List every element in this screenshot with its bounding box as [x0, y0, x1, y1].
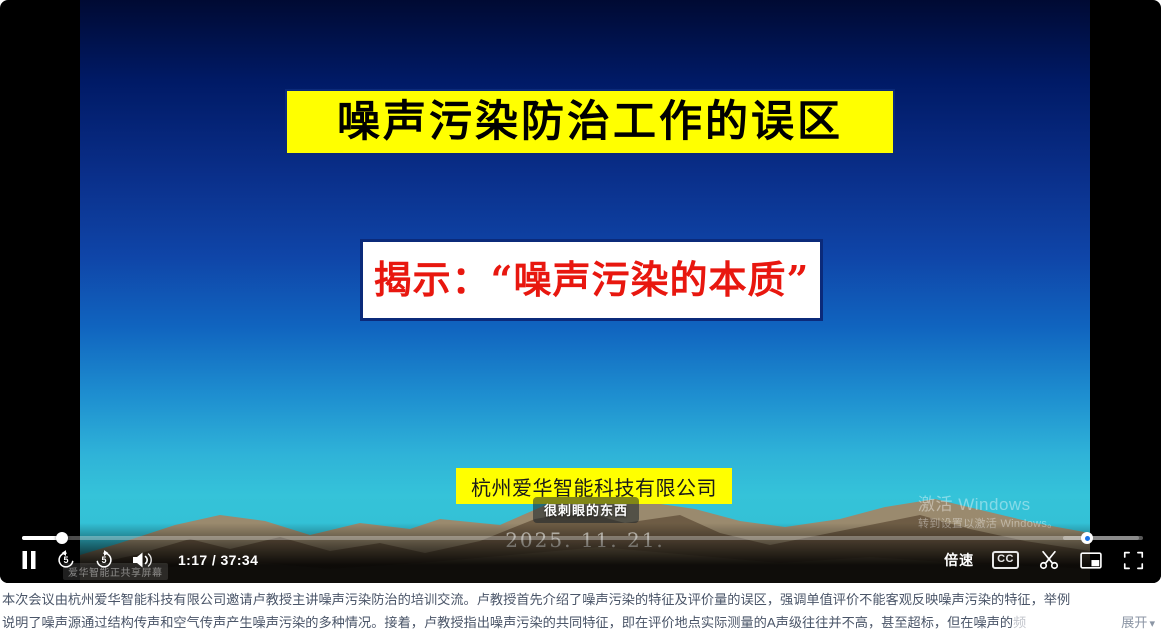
slide-title: 噪声污染防治工作的误区: [337, 101, 843, 144]
pause-button[interactable]: [18, 548, 40, 572]
description-line-2: 说明了噪声源通过结构传声和空气传声产生噪声污染的多种情况。接着，卢教授指出噪声污…: [2, 611, 1161, 634]
secondary-slider-track[interactable]: [1063, 536, 1143, 540]
windows-activation-title: 激活 Windows: [918, 494, 1058, 515]
description-line-1: 本次会议由杭州爱华智能科技有限公司邀请卢教授主讲噪声污染防治的培训交流。卢教授首…: [2, 588, 1161, 611]
player-control-bar[interactable]: 5 5 1:17 / 37:34 爱华智能正共享屏幕 倍速: [0, 523, 1161, 583]
slide-subtitle: 揭示：“噪声污染的本质”: [374, 261, 810, 299]
description-line-2-main: 说明了噪声源通过结构传声和空气传声产生噪声污染的多种情况。接着，卢教授指出噪声污…: [2, 615, 1013, 630]
chevron-down-icon: ▾: [1149, 618, 1155, 630]
picture-in-picture-icon: [1080, 551, 1102, 570]
progress-handle[interactable]: [56, 532, 68, 544]
expand-description-button[interactable]: 展开▾: [1107, 611, 1155, 636]
screen-share-watermark: 爱华智能正共享屏幕: [63, 563, 168, 580]
secondary-slider-handle[interactable]: [1081, 532, 1093, 544]
expand-label: 展开: [1121, 615, 1147, 630]
slide-title-plate: 噪声污染防治工作的误区: [285, 89, 895, 155]
video-description: 本次会议由杭州爱华智能科技有限公司邀请卢教授主讲噪声污染防治的培训交流。卢教授首…: [0, 586, 1161, 637]
player-right-controls[interactable]: 倍速 CC: [944, 545, 1145, 575]
video-player[interactable]: 噪声污染防治工作的误区 揭示：“噪声污染的本质” 杭州爱华智能科技有限公司 很刺…: [0, 0, 1161, 583]
danmaku-comment: 很刺眼的东西: [533, 497, 639, 523]
playback-speed-button[interactable]: 倍速: [944, 550, 974, 570]
fullscreen-icon: [1123, 550, 1144, 571]
fullscreen-button[interactable]: [1121, 548, 1145, 572]
slide-canvas: 噪声污染防治工作的误区 揭示：“噪声污染的本质” 杭州爱华智能科技有限公司 很刺…: [80, 0, 1090, 583]
time-display: 1:17 / 37:34: [178, 552, 258, 568]
pause-icon: [21, 550, 37, 570]
description-line-2-fade: 频: [1013, 615, 1026, 630]
progress-track[interactable]: [22, 536, 1139, 540]
picture-in-picture-button[interactable]: [1079, 548, 1103, 572]
clip-button[interactable]: [1037, 548, 1061, 572]
progress-bar[interactable]: [0, 531, 1161, 545]
captions-button[interactable]: CC: [992, 551, 1019, 569]
scissors-icon: [1038, 549, 1060, 571]
slide-subtitle-plate: 揭示：“噪声污染的本质”: [360, 239, 823, 321]
